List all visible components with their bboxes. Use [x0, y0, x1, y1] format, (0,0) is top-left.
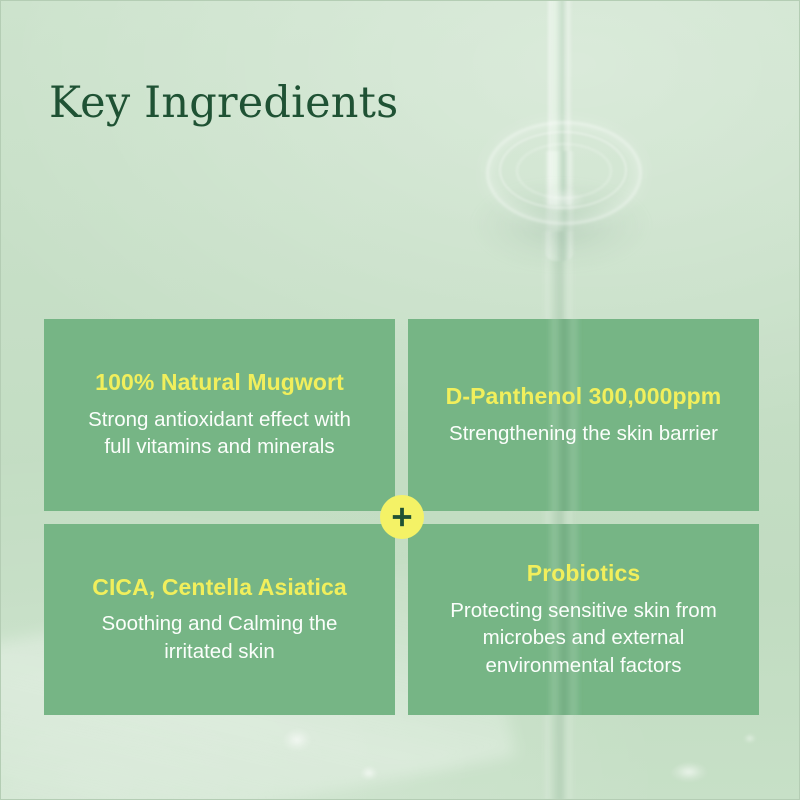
glass-collar-outer-icon — [486, 121, 642, 225]
water-droplet-icon — [281, 727, 323, 767]
key-ingredients-infographic: Key Ingredients 100% Natural Mugwort Str… — [0, 0, 800, 800]
water-droplet-icon — [743, 733, 761, 750]
page-title: Key Ingredients — [49, 79, 398, 127]
ingredient-card-d-panthenol: D-Panthenol 300,000ppm Strengthening the… — [408, 319, 759, 511]
ingredient-description: Strong antioxidant effect with full vita… — [80, 406, 360, 461]
ingredient-card-cica: CICA, Centella Asiatica Soothing and Cal… — [44, 524, 395, 715]
glass-collar-inner-icon — [516, 143, 612, 199]
ingredient-description: Soothing and Calming the irritated skin — [70, 610, 370, 665]
glass-dropper-stem-icon — [546, 0, 573, 205]
ingredient-heading: Probiotics — [527, 560, 640, 588]
glass-dropper-lower-icon — [544, 151, 575, 261]
ingredient-description: Protecting sensitive skin from microbes … — [439, 597, 729, 679]
ingredient-heading: 100% Natural Mugwort — [95, 369, 344, 397]
ingredient-card-mugwort: 100% Natural Mugwort Strong antioxidant … — [44, 319, 395, 511]
ingredient-description: Strengthening the skin barrier — [449, 420, 718, 447]
ingredient-card-probiotics: Probiotics Protecting sensitive skin fro… — [408, 524, 759, 715]
glass-collar-shadow — [471, 179, 651, 271]
water-droplet-icon — [669, 761, 721, 795]
ingredient-heading: D-Panthenol 300,000ppm — [446, 383, 722, 411]
glass-collar-highlight — [541, 187, 585, 213]
glass-collar-mid-icon — [499, 131, 627, 209]
ingredient-heading: CICA, Centella Asiatica — [92, 574, 347, 602]
water-droplet-icon — [359, 765, 385, 790]
plus-badge — [380, 495, 424, 539]
plus-icon — [391, 506, 413, 528]
